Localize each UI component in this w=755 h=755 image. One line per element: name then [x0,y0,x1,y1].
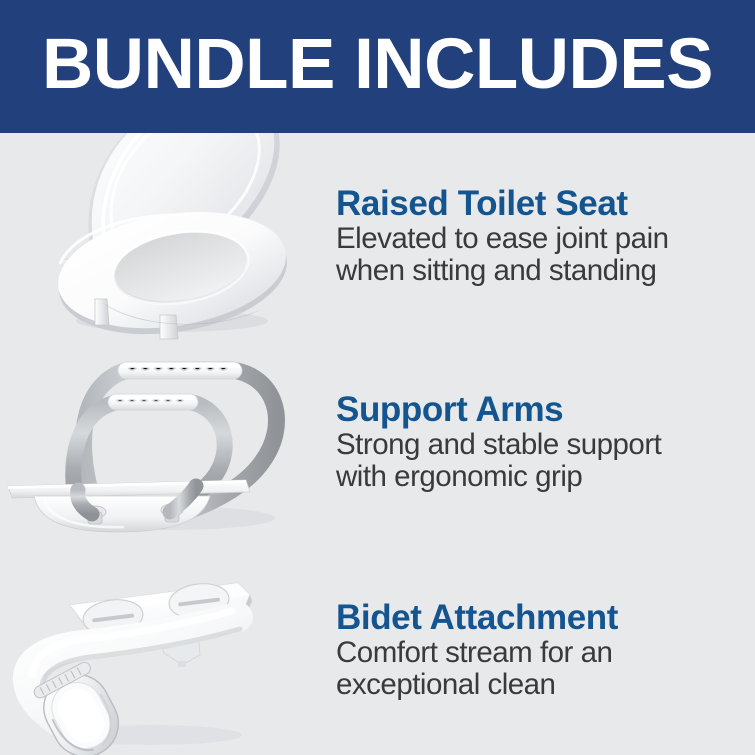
grip-front [108,394,198,410]
feature-description-line1: Elevated to ease joint pain [336,223,737,255]
feature-text-raised-toilet-seat: Raised Toilet Seat Elevated to ease join… [330,186,755,286]
grip-back [118,362,242,379]
feature-description: Comfort stream for an exceptional clean [336,637,737,700]
feature-row-support-arms: Support Arms Strong and stable support w… [0,340,755,545]
bidet-attachment-image [0,545,330,755]
feature-text-bidet-attachment: Bidet Attachment Comfort stream for an e… [330,600,755,700]
raised-toilet-seat-image [0,133,330,340]
feature-description-line1: Comfort stream for an [336,637,737,669]
feature-row-bidet-attachment: Bidet Attachment Comfort stream for an e… [0,545,755,755]
feature-description: Strong and stable support with ergonomic… [336,429,737,492]
page-title: BUNDLE INCLUDES [0,0,755,133]
header-band: BUNDLE INCLUDES [0,0,755,133]
feature-title: Bidet Attachment [336,600,737,636]
feature-description-line2: exceptional clean [336,669,737,701]
support-arms-image [0,340,330,545]
feature-description: Elevated to ease joint pain when sitting… [336,223,737,286]
feature-description-line1: Strong and stable support [336,429,737,461]
bundle-includes-infographic: BUNDLE INCLUDES [0,0,755,755]
feature-description-line2: with ergonomic grip [336,461,737,493]
feature-title: Support Arms [336,392,737,428]
feature-text-support-arms: Support Arms Strong and stable support w… [330,392,755,492]
feature-row-raised-toilet-seat: Raised Toilet Seat Elevated to ease join… [0,133,755,340]
feature-description-line2: when sitting and standing [336,255,737,287]
feature-title: Raised Toilet Seat [336,186,737,222]
